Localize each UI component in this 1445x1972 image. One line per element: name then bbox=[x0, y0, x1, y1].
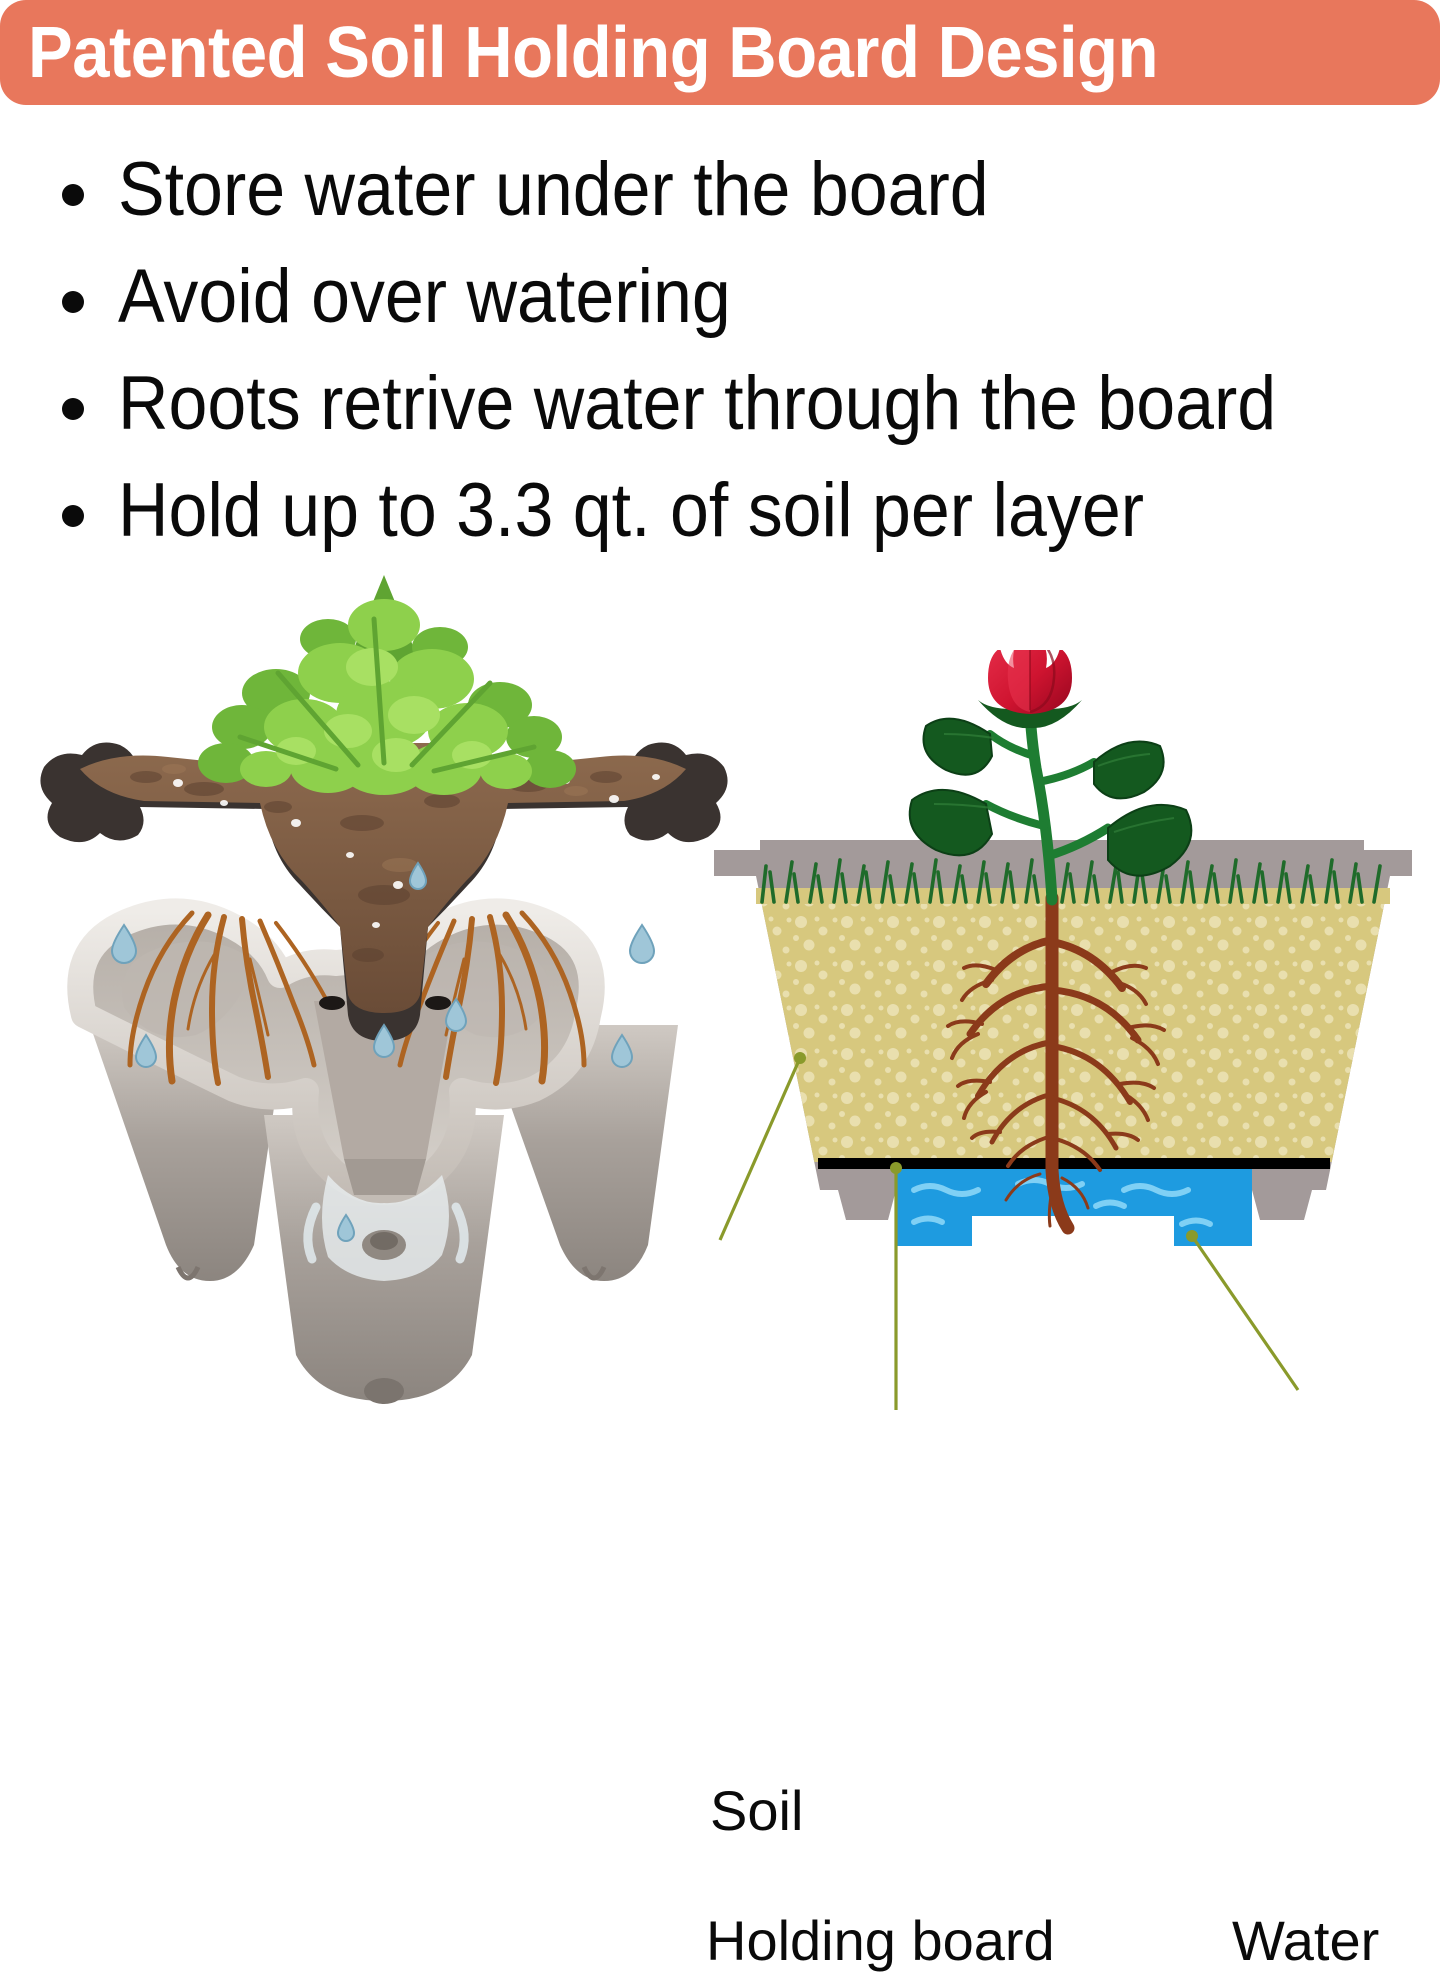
callout-label-soil: Soil bbox=[710, 1783, 803, 1839]
callout-label-water: Water bbox=[1232, 1913, 1379, 1969]
list-item-label: Avoid over watering bbox=[118, 247, 731, 347]
header-banner: Patented Soil Holding Board Design bbox=[0, 0, 1440, 105]
figures-area: Soil Holding board Water bbox=[0, 555, 1445, 1423]
rose-bloom-icon bbox=[988, 650, 1072, 714]
list-item: Hold up to 3.3 qt. of soil per layer bbox=[0, 461, 1445, 568]
list-item: Store water under the board bbox=[0, 140, 1445, 247]
bullet-dot-icon bbox=[62, 398, 84, 420]
list-item-label: Store water under the board bbox=[118, 140, 989, 240]
list-item: Roots retrive water through the board bbox=[0, 354, 1445, 461]
page-title: Patented Soil Holding Board Design bbox=[28, 17, 1158, 89]
bullet-dot-icon bbox=[62, 291, 84, 313]
leader-line-soil bbox=[720, 1058, 800, 1240]
pot-cross-section-diagram bbox=[700, 650, 1445, 1410]
soil-layer bbox=[740, 900, 1420, 1162]
feature-bullet-list: Store water under the board Avoid over w… bbox=[0, 140, 1445, 568]
callout-label-holding-board: Holding board bbox=[706, 1913, 1055, 1969]
stacking-planter-product-photo bbox=[28, 555, 740, 1423]
list-item-label: Hold up to 3.3 qt. of soil per layer bbox=[118, 461, 1144, 561]
water-reservoir bbox=[896, 1168, 1252, 1246]
green-plant-foliage bbox=[198, 563, 576, 795]
leader-line-water bbox=[1192, 1236, 1298, 1390]
bullet-dot-icon bbox=[62, 505, 84, 527]
list-item: Avoid over watering bbox=[0, 247, 1445, 354]
list-item-label: Roots retrive water through the board bbox=[118, 354, 1276, 454]
bullet-dot-icon bbox=[62, 184, 84, 206]
